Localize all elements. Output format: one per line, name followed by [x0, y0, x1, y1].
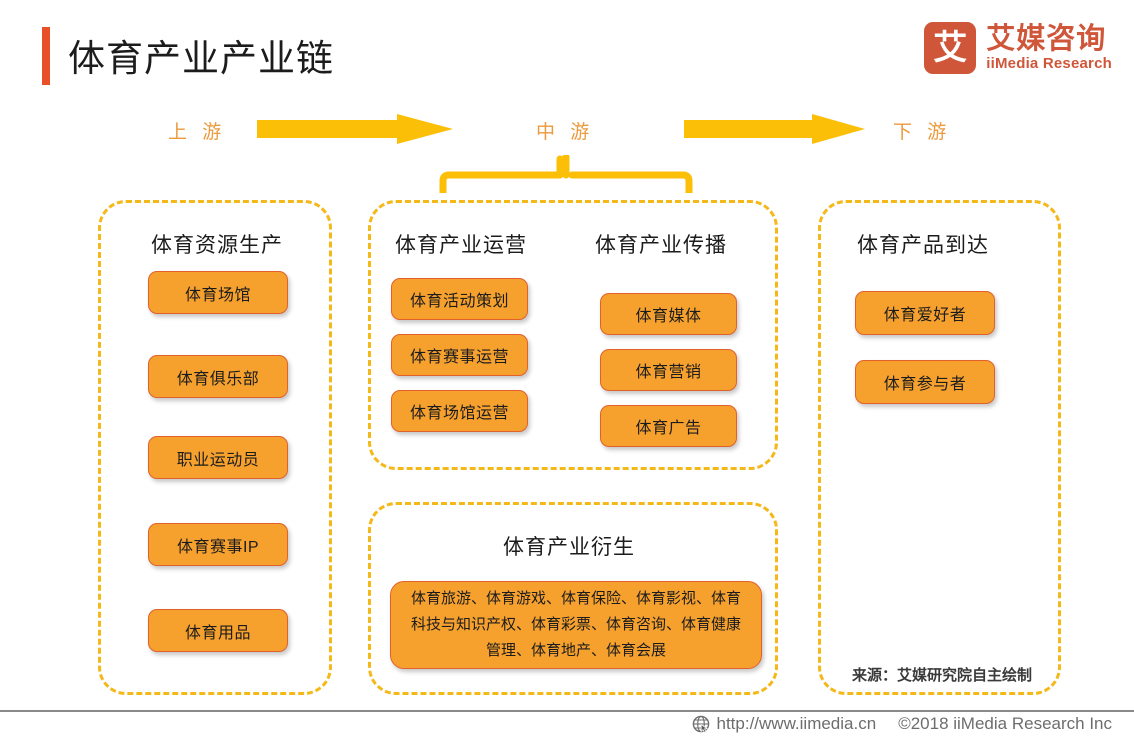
stage-label-midstream: 中 游: [536, 117, 594, 144]
panel-downstream: 体育产品到达 体育爱好者 体育参与者: [818, 200, 1061, 695]
page-title: 体育产业产业链: [68, 28, 334, 82]
chip-downstream-2[interactable]: 体育参与者: [855, 360, 995, 404]
chip-operations-3[interactable]: 体育场馆运营: [391, 390, 528, 432]
stage-label-downstream: 下 游: [893, 117, 951, 144]
panel-midstream: 体育产业运营 体育产业传播 体育活动策划 体育赛事运营 体育场馆运营 体育媒体 …: [368, 200, 778, 470]
page-footer: http://www.iimedia.cn ©2018 iiMedia Rese…: [0, 714, 1134, 734]
panel-title-upstream: 体育资源生产: [151, 229, 283, 259]
chip-downstream-1[interactable]: 体育爱好者: [855, 291, 995, 335]
globe-icon: [692, 715, 711, 734]
footer-divider: [0, 710, 1134, 712]
chip-communication-2[interactable]: 体育营销: [600, 349, 737, 391]
chip-upstream-1[interactable]: 体育场馆: [148, 271, 288, 314]
flow-arrow-icon-1: [257, 114, 453, 144]
panel-title-operations: 体育产业运营: [395, 229, 527, 259]
logo-text: 艾媒咨询 iiMedia Research: [986, 24, 1112, 73]
chip-communication-1[interactable]: 体育媒体: [600, 293, 737, 335]
chip-upstream-3[interactable]: 职业运动员: [148, 436, 288, 479]
footer-url-text: http://www.iimedia.cn: [717, 714, 877, 734]
title-accent-bar: [42, 27, 50, 85]
source-note: 来源：艾媒研究院自主绘制: [852, 664, 1032, 685]
panel-derivative: 体育产业衍生 体育旅游、体育游戏、体育保险、体育影视、体育科技与知识产权、体育彩…: [368, 502, 778, 695]
panel-upstream: 体育资源生产 体育场馆 体育俱乐部 职业运动员 体育赛事IP 体育用品: [98, 200, 332, 695]
panel-title-derivative: 体育产业衍生: [503, 531, 635, 561]
chip-upstream-4[interactable]: 体育赛事IP: [148, 523, 288, 566]
logo-name-en: iiMedia Research: [986, 55, 1112, 72]
chip-communication-3[interactable]: 体育广告: [600, 405, 737, 447]
chip-operations-2[interactable]: 体育赛事运营: [391, 334, 528, 376]
chip-derivative-body[interactable]: 体育旅游、体育游戏、体育保险、体育影视、体育科技与知识产权、体育彩票、体育咨询、…: [390, 581, 762, 669]
panel-title-communication: 体育产业传播: [595, 229, 727, 259]
stage-label-upstream: 上 游: [168, 117, 226, 144]
logo-mark-icon: 艾: [924, 22, 976, 74]
footer-copyright: ©2018 iiMedia Research Inc: [898, 714, 1112, 734]
panel-title-downstream: 体育产品到达: [857, 229, 989, 259]
chip-upstream-5[interactable]: 体育用品: [148, 609, 288, 652]
page-header: 体育产业产业链 艾 艾媒咨询 iiMedia Research: [0, 0, 1134, 100]
flow-arrow-icon-2: [684, 114, 865, 144]
footer-url[interactable]: http://www.iimedia.cn: [692, 714, 877, 734]
brand-logo: 艾 艾媒咨询 iiMedia Research: [924, 22, 1112, 74]
chip-operations-1[interactable]: 体育活动策划: [391, 278, 528, 320]
chip-upstream-2[interactable]: 体育俱乐部: [148, 355, 288, 398]
brace-connector-icon: [437, 155, 695, 193]
logo-name-cn: 艾媒咨询: [986, 24, 1112, 55]
